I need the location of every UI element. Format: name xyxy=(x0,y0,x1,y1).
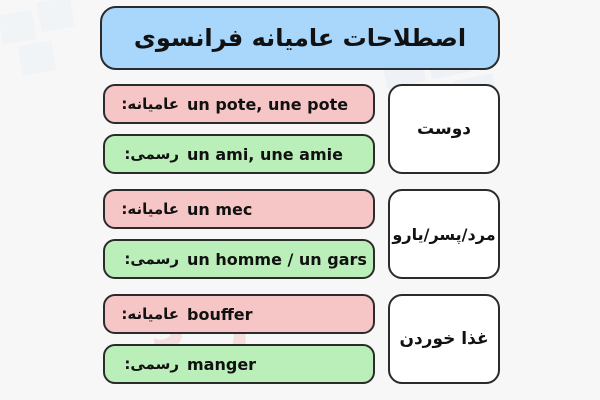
meaning-text-1: دوست xyxy=(417,119,471,139)
slang-value-3: bouffer xyxy=(179,305,361,324)
formal-row-1: رسمی: un ami, une amie xyxy=(103,134,375,174)
slang-label-3: عامیانه: xyxy=(117,305,179,323)
slang-value-2: un mec xyxy=(179,200,361,219)
formal-label-3: رسمی: xyxy=(117,355,179,373)
meaning-box-3: غذا خوردن xyxy=(388,294,500,384)
formal-value-3: manger xyxy=(179,355,361,374)
meaning-box-2: مرد/پسر/یارو xyxy=(388,189,500,279)
formal-label-1: رسمی: xyxy=(117,145,179,163)
slang-row-2: عامیانه: un mec xyxy=(103,189,375,229)
formal-label-2: رسمی: xyxy=(117,250,179,268)
meaning-box-1: دوست xyxy=(388,84,500,174)
formal-row-3: رسمی: manger xyxy=(103,344,375,384)
infographic-stage: اصطلاحات عامیانه فرانسوی عامیانه: un pot… xyxy=(0,0,600,400)
formal-row-2: رسمی: un homme / un gars xyxy=(103,239,375,279)
slang-value-1: un pote, une pote xyxy=(179,95,361,114)
formal-value-2: un homme / un gars xyxy=(179,250,367,269)
page-title-box: اصطلاحات عامیانه فرانسوی xyxy=(100,6,500,70)
slang-row-3: عامیانه: bouffer xyxy=(103,294,375,334)
meaning-text-3: غذا خوردن xyxy=(399,329,488,349)
slang-row-1: عامیانه: un pote, une pote xyxy=(103,84,375,124)
term-group-3-rows: عامیانه: bouffer رسمی: manger xyxy=(103,294,375,384)
slang-label-1: عامیانه: xyxy=(117,95,179,113)
meaning-text-2: مرد/پسر/یارو xyxy=(392,225,495,244)
term-group-1-rows: عامیانه: un pote, une pote رسمی: un ami,… xyxy=(103,84,375,174)
formal-value-1: un ami, une amie xyxy=(179,145,361,164)
slang-label-2: عامیانه: xyxy=(117,200,179,218)
term-group-2-rows: عامیانه: un mec رسمی: un homme / un gars xyxy=(103,189,375,279)
page-title: اصطلاحات عامیانه فرانسوی xyxy=(134,26,466,50)
